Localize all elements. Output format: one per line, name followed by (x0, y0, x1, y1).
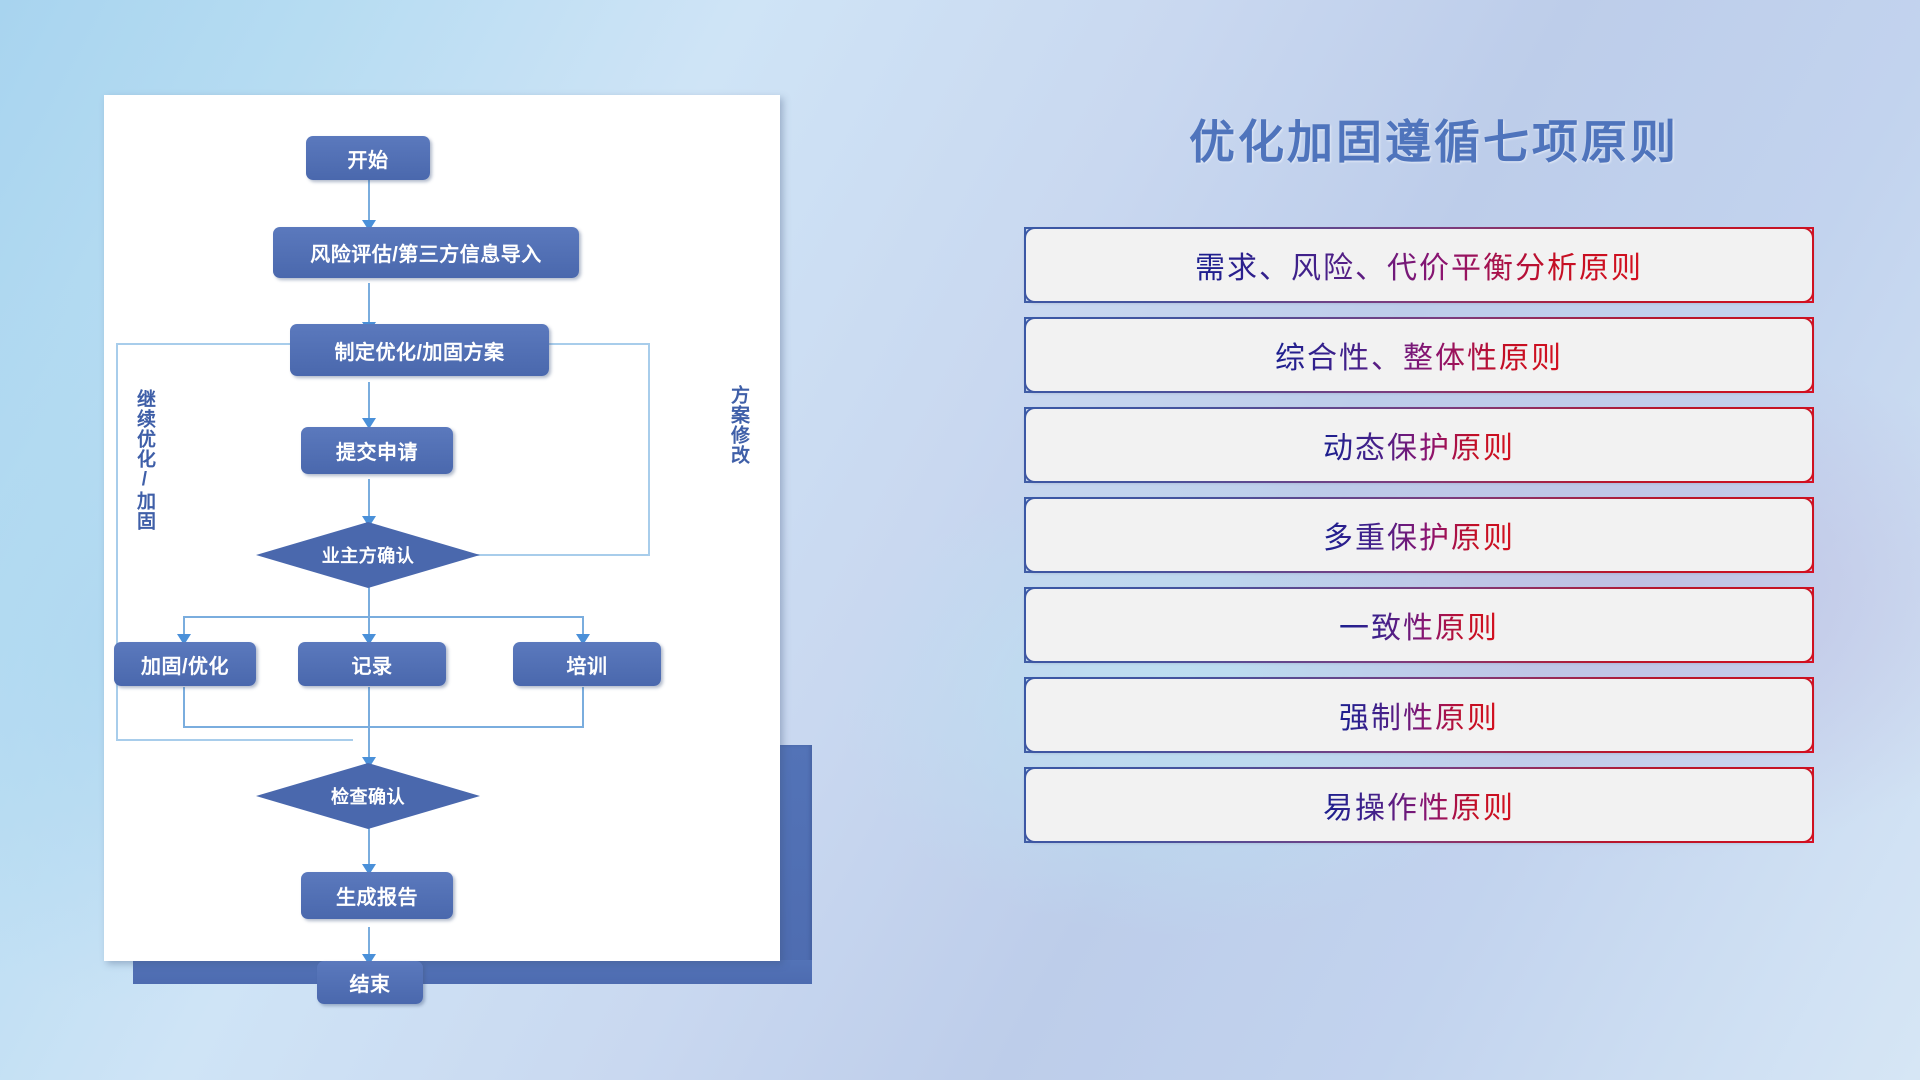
flow-node-submit[interactable]: 提交申请 (301, 427, 453, 474)
flow-node-start-label: 开始 (348, 144, 389, 173)
flow-node-plan[interactable]: 制定优化/加固方案 (290, 324, 549, 376)
flow-node-record-label: 记录 (352, 650, 393, 679)
connector-training-merge (582, 687, 584, 728)
flow-node-owner-confirm-label: 业主方确认 (322, 542, 415, 568)
flow-node-end[interactable]: 结束 (317, 961, 423, 1004)
flow-node-submit-label: 提交申请 (336, 436, 418, 465)
flowchart-accent-block-bottom (133, 960, 812, 984)
principles-panel: 优化加固遵循七项原则 需求、风险、代价平衡分析原则 综合性、整体性原则 动态保护… (1024, 88, 1844, 1008)
connector-merge-bus (183, 726, 583, 728)
flow-node-check-confirm-label: 检查确认 (331, 783, 405, 809)
flow-node-end-label: 结束 (350, 968, 391, 997)
connector-loop-right-bottom (460, 554, 650, 556)
connector-loop-left-bottom (116, 739, 353, 741)
flowchart-card: 开始 风险评估/第三方信息导入 制定优化/加固方案 提交申请 业主方确认 加固/… (104, 95, 780, 961)
principle-item-6[interactable]: 强制性原则 (1024, 677, 1814, 753)
principle-item-3[interactable]: 动态保护原则 (1024, 407, 1814, 483)
connector-reinforce-merge (183, 687, 185, 728)
flow-node-risk-assessment-label: 风险评估/第三方信息导入 (310, 238, 542, 267)
principle-label: 动态保护原则 (1323, 423, 1515, 467)
connector-branch-bus (183, 616, 583, 618)
connector-record-merge (368, 687, 370, 728)
principle-label: 多重保护原则 (1323, 513, 1515, 557)
principle-label: 需求、风险、代价平衡分析原则 (1195, 243, 1643, 287)
principle-label: 一致性原则 (1339, 603, 1499, 647)
principle-label: 易操作性原则 (1323, 783, 1515, 827)
flow-node-check-confirm[interactable]: 检查确认 (256, 763, 480, 829)
principle-item-2[interactable]: 综合性、整体性原则 (1024, 317, 1814, 393)
flow-node-risk-assessment[interactable]: 风险评估/第三方信息导入 (273, 227, 579, 278)
flow-node-start[interactable]: 开始 (306, 136, 430, 180)
connector-loop-right-vertical (648, 343, 650, 556)
principle-item-4[interactable]: 多重保护原则 (1024, 497, 1814, 573)
page-title: 优化加固遵循七项原则 (1024, 106, 1844, 172)
flow-node-plan-label: 制定优化/加固方案 (334, 336, 504, 365)
principle-item-7[interactable]: 易操作性原则 (1024, 767, 1814, 843)
edge-label-plan-revision: 方案修改 (728, 385, 748, 465)
flow-node-reinforce[interactable]: 加固/优化 (114, 642, 256, 686)
flow-node-training-label: 培训 (567, 650, 608, 679)
edge-label-continue-optimize: 继续优化/加固 (134, 389, 154, 531)
slide-canvas: 开始 风险评估/第三方信息导入 制定优化/加固方案 提交申请 业主方确认 加固/… (0, 0, 1920, 1080)
principle-item-5[interactable]: 一致性原则 (1024, 587, 1814, 663)
principle-label: 强制性原则 (1339, 693, 1499, 737)
flow-node-record[interactable]: 记录 (298, 642, 446, 686)
flow-node-owner-confirm[interactable]: 业主方确认 (256, 522, 480, 588)
principle-item-1[interactable]: 需求、风险、代价平衡分析原则 (1024, 227, 1814, 303)
principles-list: 需求、风险、代价平衡分析原则 综合性、整体性原则 动态保护原则 多重保护原则 一… (1024, 227, 1814, 857)
flow-node-report-label: 生成报告 (336, 881, 418, 910)
flow-node-training[interactable]: 培训 (513, 642, 661, 686)
flow-node-reinforce-label: 加固/优化 (141, 650, 229, 679)
flow-node-report[interactable]: 生成报告 (301, 872, 453, 919)
principle-label: 综合性、整体性原则 (1275, 333, 1563, 377)
